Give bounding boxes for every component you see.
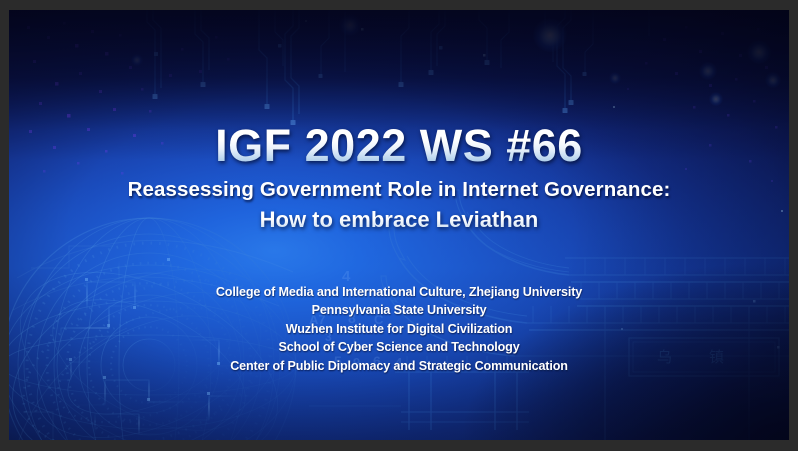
affiliation-item: Center of Public Diplomacy and Strategic… (9, 357, 789, 375)
affiliation-item: Pennsylvania State University (9, 301, 789, 319)
affiliation-item: School of Cyber Science and Technology (9, 338, 789, 356)
affiliations-list: College of Media and International Cultu… (9, 283, 789, 375)
slide-frame: 乌 镇 (0, 0, 798, 451)
presentation-slide: 乌 镇 (9, 10, 789, 440)
affiliation-item: Wuzhen Institute for Digital Civilizatio… (9, 320, 789, 338)
affiliation-item: College of Media and International Cultu… (9, 283, 789, 301)
subtitle-line-2: How to embrace Leviathan (9, 207, 789, 233)
page-title: IGF 2022 WS #66 (9, 120, 789, 172)
subtitle-line-1: Reassessing Government Role in Internet … (9, 178, 789, 202)
